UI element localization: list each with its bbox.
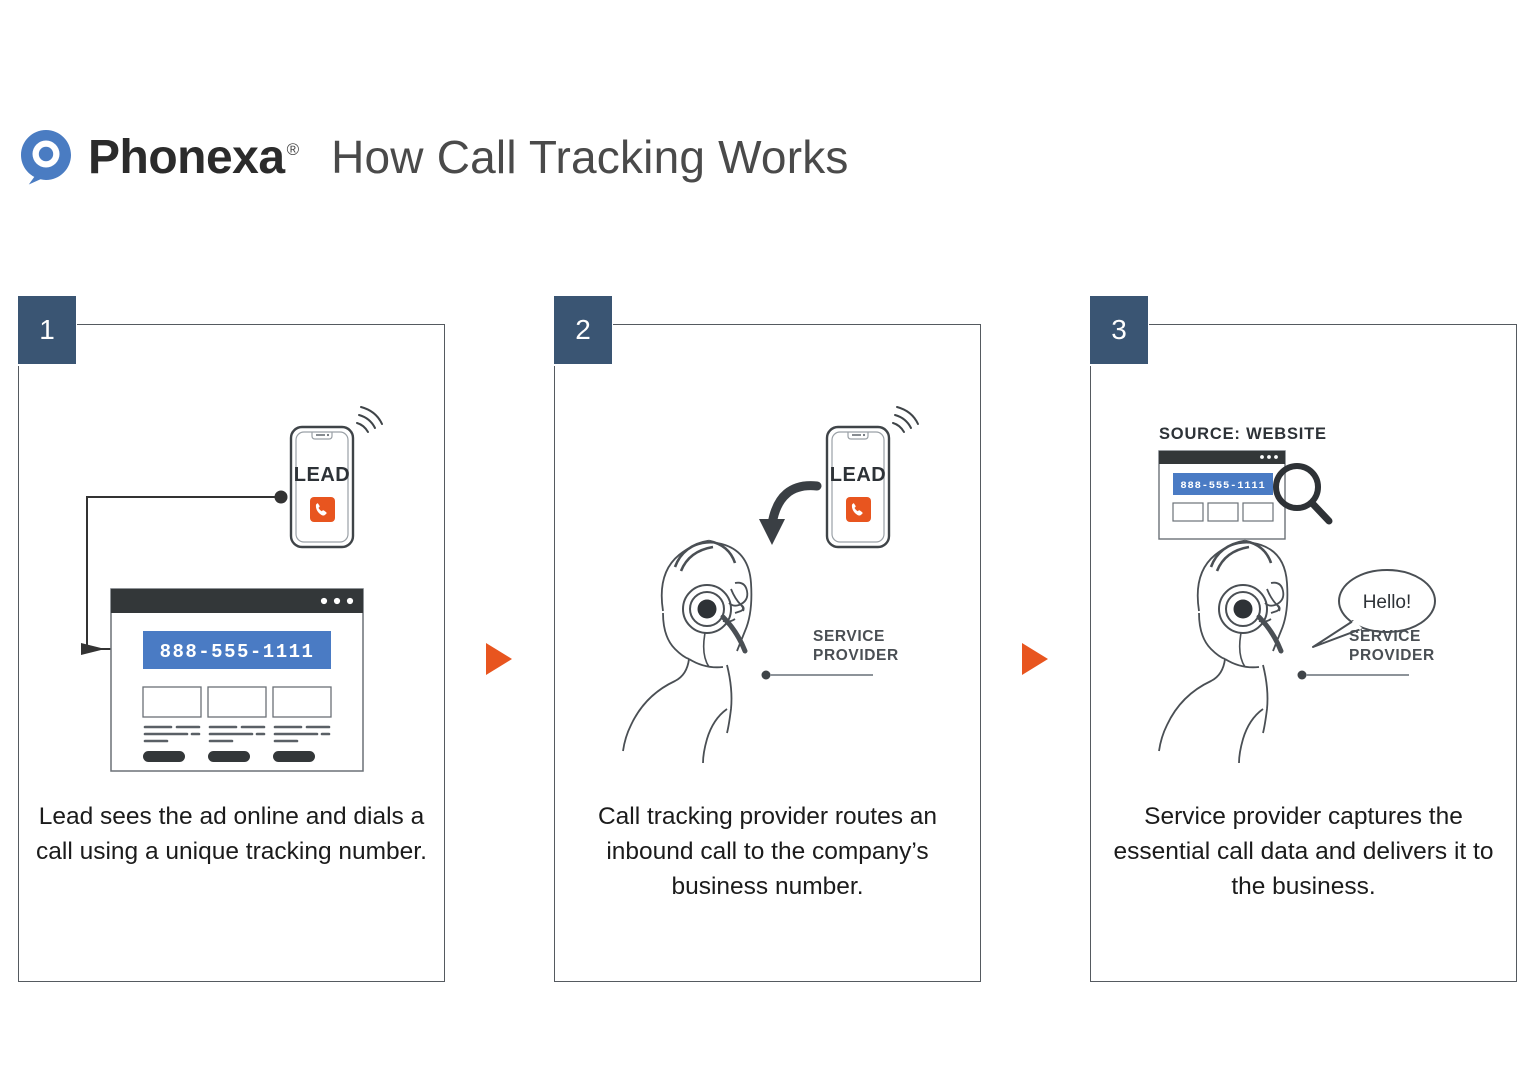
agent-with-headset-icon [1159,541,1287,763]
speech-text: Hello! [1363,592,1412,613]
phone-mockup: LEAD [827,407,918,547]
curved-down-arrow-icon [759,486,817,545]
step-3-illustration: SOURCE: WEBSITE 888-555-1111 [1091,351,1516,781]
step-badge-1: 1 [18,296,76,364]
source-label: SOURCE: WEBSITE [1159,425,1327,443]
brand-name: Phonexa [88,130,285,185]
step-panel-1: LEAD [18,324,445,982]
svg-text:LEAD: LEAD [294,464,350,486]
infographic-page: Phonexa ® How Call Tracking Works [0,0,1536,1091]
step-3-caption: Service provider captures the essential … [1107,799,1500,904]
step-badge-2: 2 [554,296,612,364]
svg-text:888-555-1111: 888-555-1111 [1180,480,1265,492]
separator-arrow-2-icon [1022,643,1048,675]
browser-mockup: 888-555-1111 [111,589,363,771]
agent-with-headset-icon [623,541,751,763]
service-provider-label: SERVICE PROVIDER [1298,628,1435,680]
separator-arrow-1-icon [486,643,512,675]
svg-text:888-555-1111: 888-555-1111 [160,641,315,663]
step-badge-3: 3 [1090,296,1148,364]
label-line-2: PROVIDER [1349,647,1435,664]
label-line-1: SERVICE [1349,628,1421,645]
step-panel-3: SOURCE: WEBSITE 888-555-1111 [1090,324,1517,982]
step-1-illustration: LEAD [19,351,444,781]
service-provider-label: SERVICE PROVIDER [762,628,899,680]
browser-mockup: 888-555-1111 [1159,451,1285,539]
label-line-1: SERVICE [813,628,885,645]
phonexa-pin-logo-icon [18,128,74,186]
step-2-illustration: LEAD [555,351,980,781]
phone-mockup: LEAD [291,407,382,547]
label-line-2: PROVIDER [813,647,899,664]
steps-row: LEAD [0,296,1536,986]
step-2-caption: Call tracking provider routes an inbound… [571,799,964,904]
step-1-caption: Lead sees the ad online and dials a call… [35,799,428,869]
page-title: How Call Tracking Works [331,130,849,184]
step-panel-2: LEAD [554,324,981,982]
registered-mark: ® [287,140,300,160]
svg-text:LEAD: LEAD [830,464,886,486]
brand-lockup: Phonexa ® [88,130,299,185]
page-header: Phonexa ® How Call Tracking Works [18,128,849,186]
